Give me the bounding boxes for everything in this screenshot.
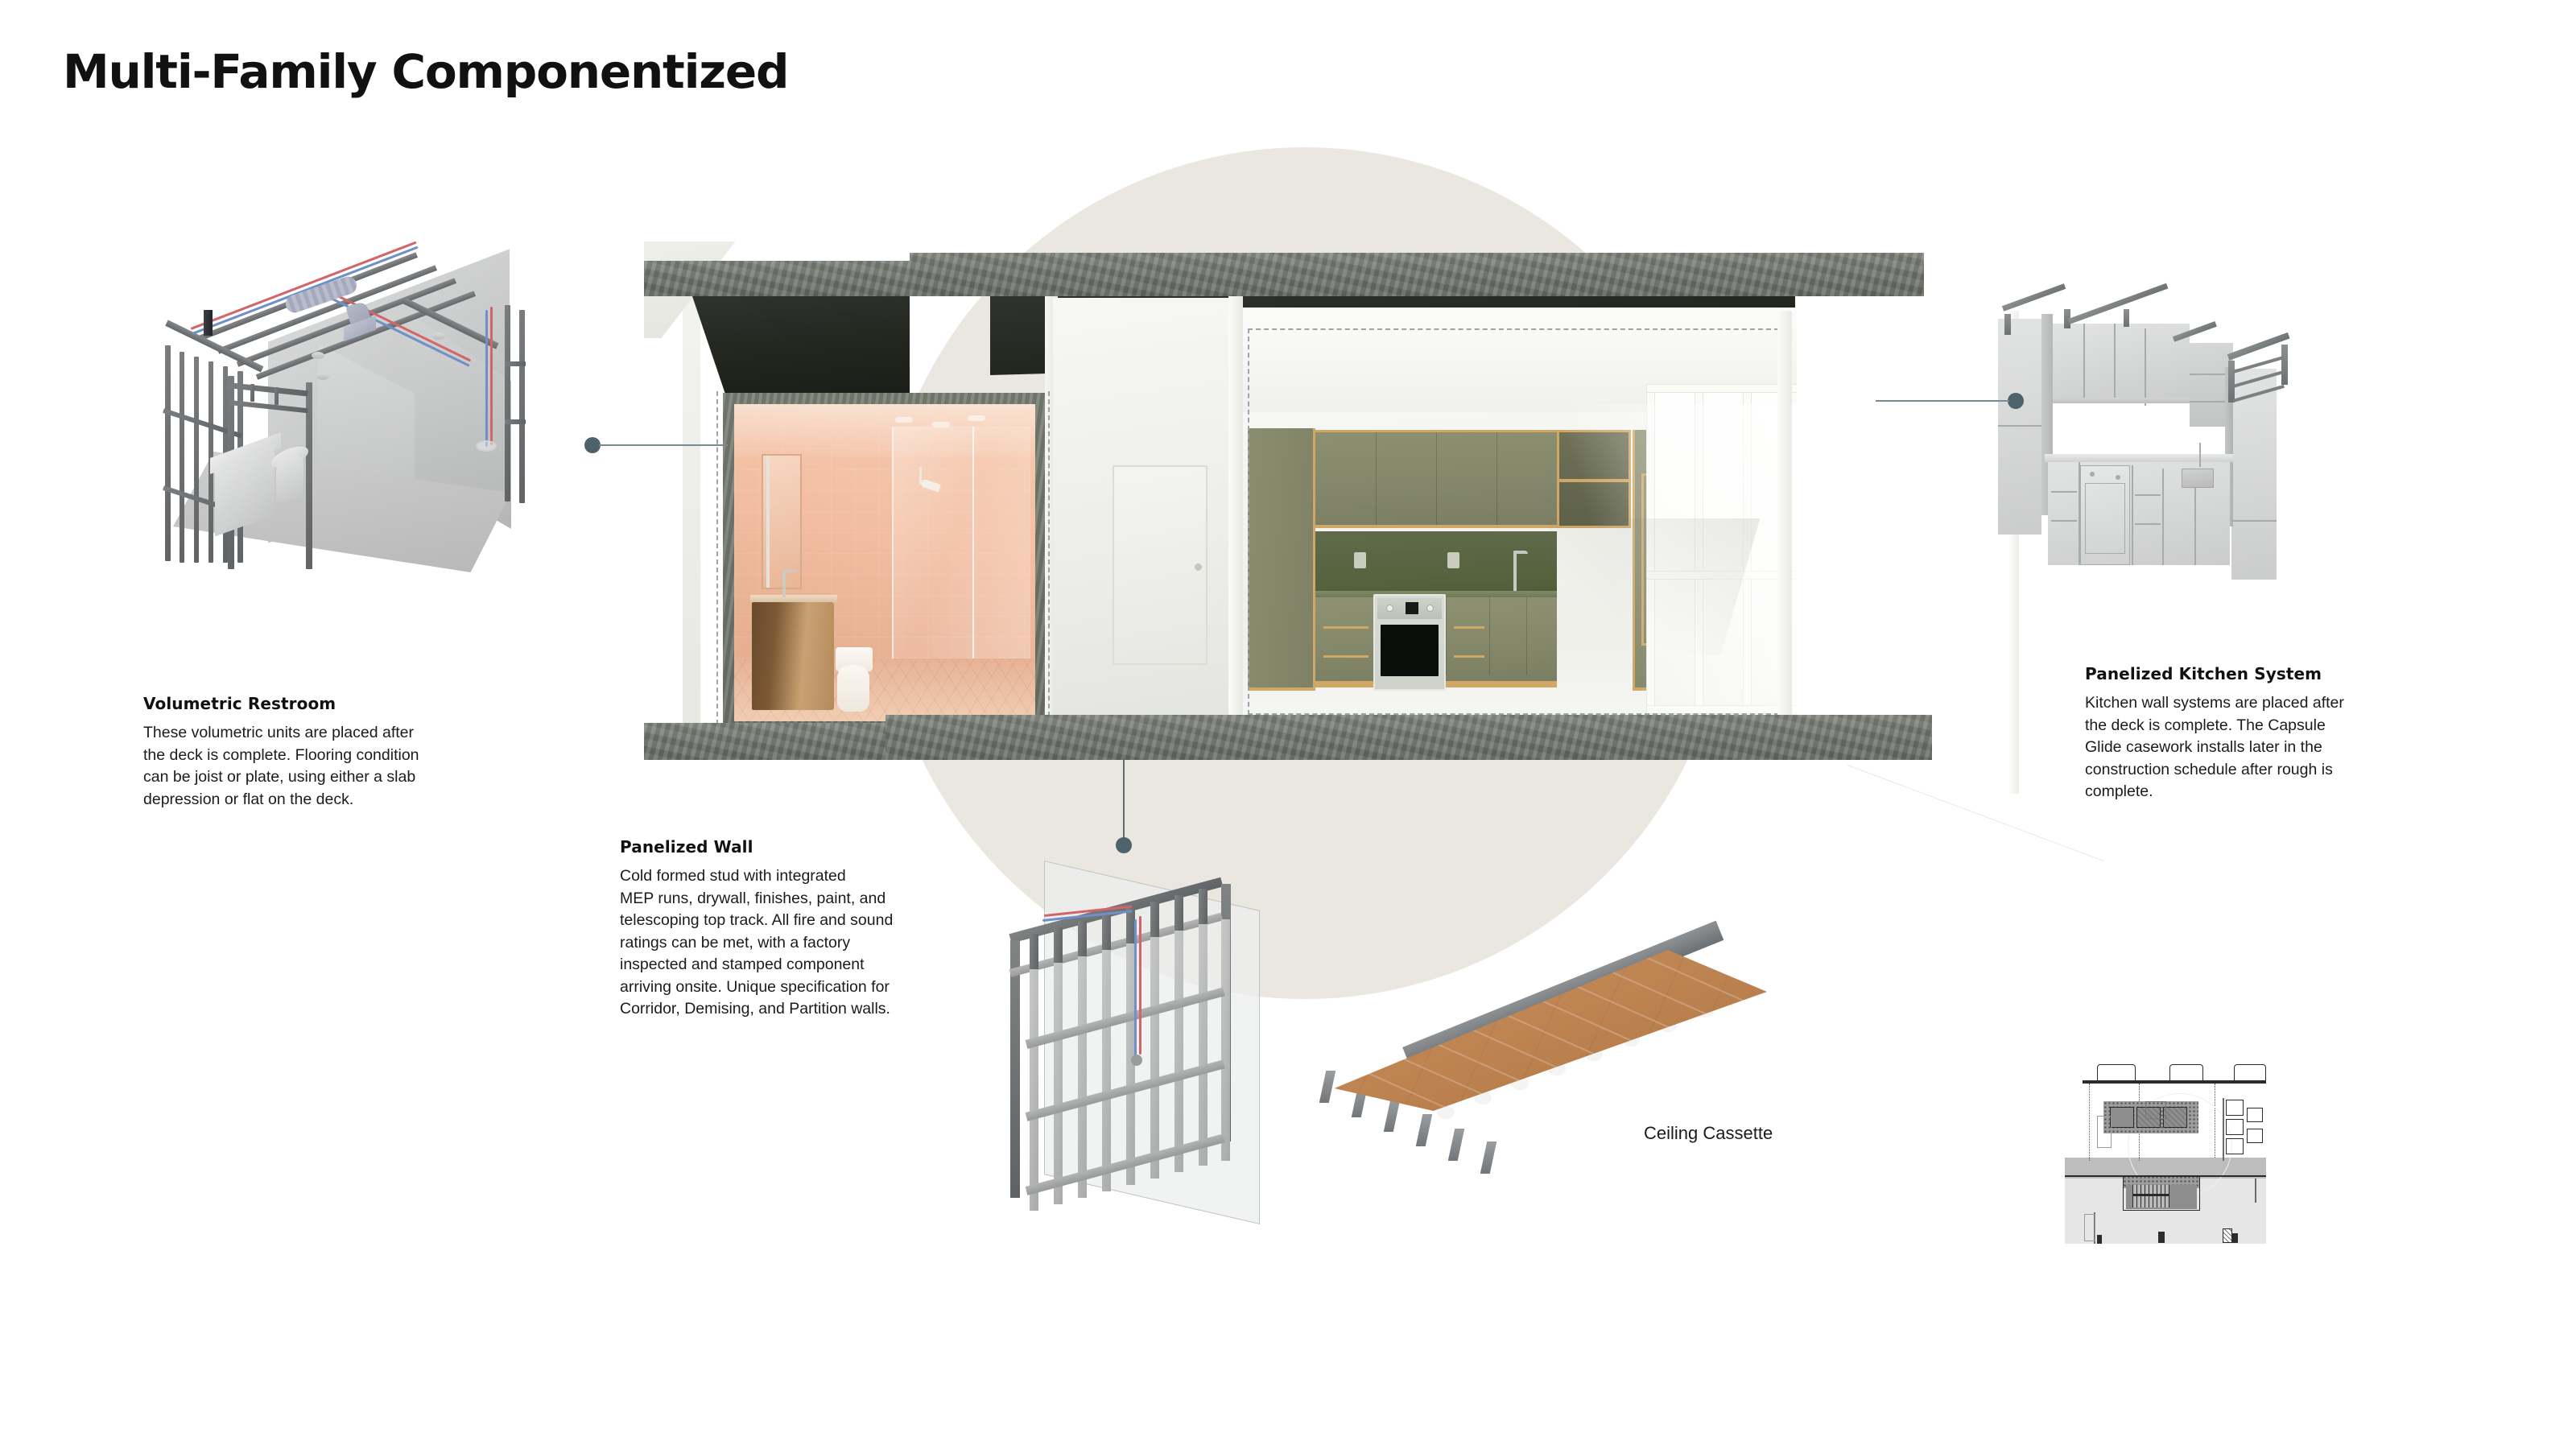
faucet-icon — [2199, 443, 2201, 467]
leader-line-restroom — [599, 444, 728, 446]
panelized-wall-cad — [1010, 853, 1312, 1232]
vent-stack — [204, 310, 213, 336]
caption-body: Kitchen wall systems are placed after th… — [2085, 692, 2431, 803]
kitchen-backsplash — [1315, 531, 1557, 594]
sink-basin — [2182, 469, 2214, 488]
caption-title: Panelized Kitchen System — [2085, 664, 2431, 683]
bathroom-pod — [723, 393, 1045, 731]
pipe-ring — [476, 440, 497, 452]
caption-title: Panelized Wall — [620, 837, 982, 857]
structural-column — [1777, 311, 1792, 729]
roof-slab-left — [644, 261, 910, 296]
caption-panelized-wall: Panelized Wall Cold formed stud with int… — [620, 837, 982, 1021]
caption-body: These volumetric units are placed after … — [143, 722, 502, 811]
ceiling-plenum-left — [692, 296, 910, 393]
leader-line-kitchen — [1876, 400, 2009, 402]
outlet-icon — [1447, 552, 1459, 568]
cast-shadow — [1512, 518, 1761, 655]
outlet-box — [1131, 1055, 1142, 1066]
faucet-stem — [1513, 552, 1517, 594]
wood-vanity — [752, 602, 834, 710]
corridor-room — [1053, 298, 1238, 733]
caption-panelized-kitchen-system: Panelized Kitchen System Kitchen wall sy… — [2085, 664, 2431, 803]
plywood-deck — [1316, 950, 1767, 1111]
floor-slab-left — [644, 723, 885, 760]
shower-glass — [892, 427, 1030, 663]
corridor-door — [1113, 465, 1207, 665]
floor-slab — [885, 715, 1932, 760]
caption-title: Volumetric Restroom — [143, 694, 502, 713]
label-ceiling-cassette: Ceiling Cassette — [1644, 1123, 1773, 1144]
end-wall — [683, 288, 700, 739]
diagram-canvas: Multi-Family Componentized — [0, 0, 2576, 1449]
roof-slab — [910, 253, 1924, 296]
structural-column — [1228, 293, 1243, 734]
outlet-icon — [1354, 552, 1366, 568]
volumetric-restroom-cad — [141, 262, 547, 600]
caption-body: Cold formed stud with integrated MEP run… — [620, 865, 982, 1021]
upper-cabinets — [1315, 430, 1557, 528]
unit-cutaway-render — [644, 242, 2013, 805]
door-knob — [1195, 563, 1202, 571]
living-kitchen-room — [1241, 308, 1797, 733]
leader-line-wall — [1123, 758, 1125, 839]
page-title: Multi-Family Componentized — [63, 44, 788, 99]
tall-cabinet-left — [1248, 428, 1315, 691]
wall-oven — [1373, 594, 1446, 691]
leader-dot-wall — [1116, 837, 1132, 853]
leader-dot-kitchen — [2008, 393, 2024, 409]
panelized-kitchen-cad — [1995, 290, 2333, 596]
caption-volumetric-restroom: Volumetric Restroom These volumetric uni… — [143, 694, 502, 811]
leader-dot-restroom — [584, 437, 601, 453]
floor-plan-drawing — [2065, 1063, 2266, 1244]
